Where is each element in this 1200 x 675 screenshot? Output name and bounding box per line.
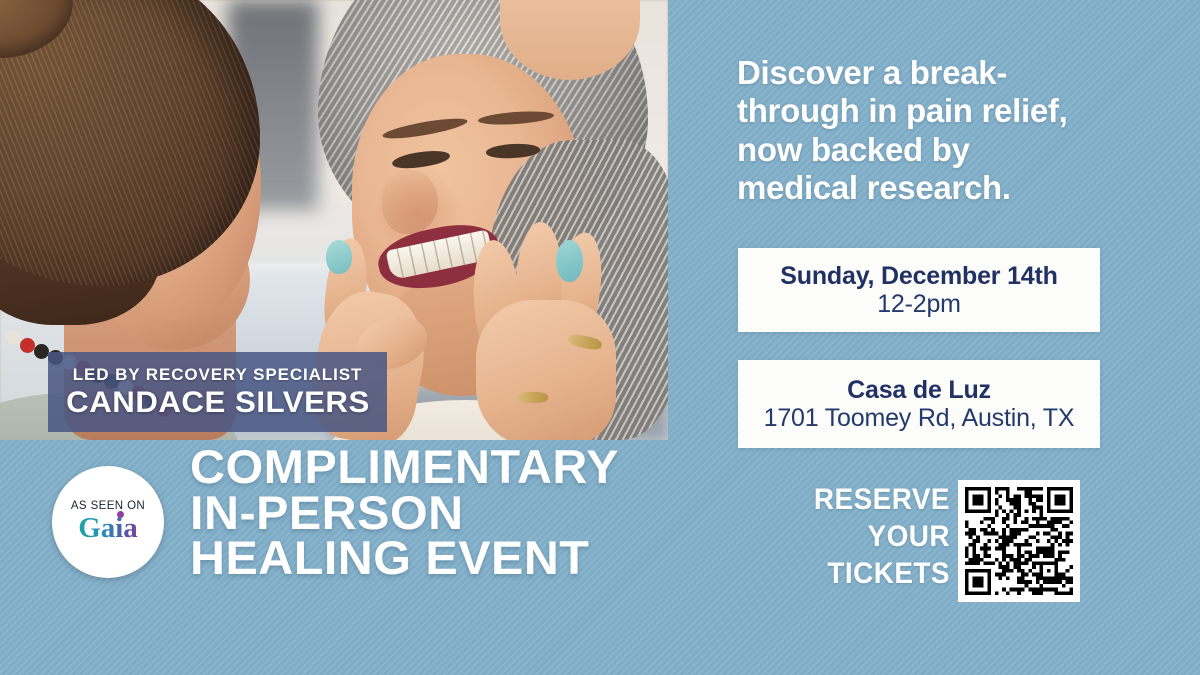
venue-address: 1701 Toomey Rd, Austin, TX xyxy=(764,404,1075,433)
page-title-line-3: HEALING EVENT xyxy=(190,535,619,581)
woman-right-nose xyxy=(382,170,438,234)
gaia-brand-label: Gaia xyxy=(78,512,138,544)
qr-code[interactable] xyxy=(958,480,1080,602)
speaker-banner: LED BY RECOVERY SPECIALIST CANDACE SILVE… xyxy=(48,352,387,432)
reserve-line-2: YOUR xyxy=(792,519,950,556)
reserve-line-1: RESERVE xyxy=(792,482,950,519)
turquoise-nail-left xyxy=(326,240,352,274)
gaia-logo-text: Gaia xyxy=(78,514,138,543)
qr-code-image xyxy=(965,487,1073,595)
necklace-bead xyxy=(34,344,49,359)
speaker-name: CANDACE SILVERS xyxy=(66,388,370,418)
reserve-line-3: TICKETS xyxy=(792,556,950,593)
event-flyer: LED BY RECOVERY SPECIALIST CANDACE SILVE… xyxy=(0,0,1200,675)
headline-line-1: Discover a break- xyxy=(737,54,1117,92)
hand-right-palm xyxy=(476,300,616,440)
turquoise-nail-right xyxy=(556,240,583,282)
page-title: COMPLIMENTARY IN-PERSON HEALING EVENT xyxy=(190,444,619,581)
page-title-line-1: COMPLIMENTARY xyxy=(190,444,619,490)
as-seen-on-label: AS SEEN ON xyxy=(71,501,145,513)
as-seen-on-gaia-badge: AS SEEN ON Gaia xyxy=(52,466,164,578)
event-date: Sunday, December 14th xyxy=(780,262,1057,290)
headline-line-3: now backed by xyxy=(737,131,1117,169)
event-venue-card: Casa de Luz 1701 Toomey Rd, Austin, TX xyxy=(738,360,1100,448)
reserve-tickets-label: RESERVE YOUR TICKETS xyxy=(792,482,950,593)
headline: Discover a break- through in pain relief… xyxy=(737,54,1117,207)
speaker-eyebrow: LED BY RECOVERY SPECIALIST xyxy=(73,366,362,383)
gold-ring-2 xyxy=(518,392,548,403)
event-time: 12-2pm xyxy=(877,290,961,319)
headline-line-4: medical research. xyxy=(737,169,1117,207)
headline-line-2: through in pain relief, xyxy=(737,92,1117,130)
venue-name: Casa de Luz xyxy=(847,376,991,404)
necklace-bead xyxy=(6,330,21,345)
necklace-bead xyxy=(20,338,35,353)
page-title-line-2: IN-PERSON xyxy=(190,490,619,536)
event-date-card: Sunday, December 14th 12-2pm xyxy=(738,248,1100,332)
